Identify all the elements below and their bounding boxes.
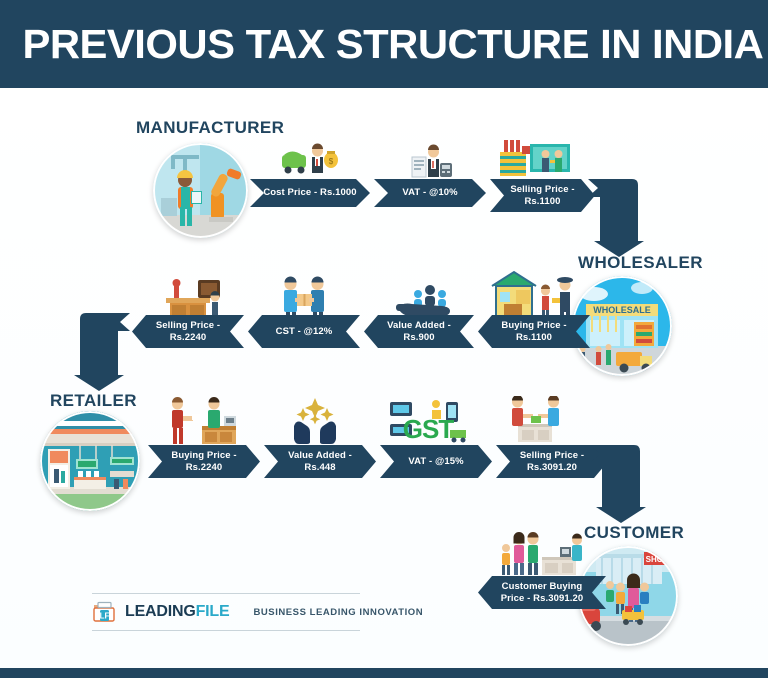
svg-text:$: $ [329, 157, 334, 166]
factory-worker-photo [153, 143, 248, 238]
icon-retail-counter [158, 396, 240, 448]
step-label: Selling Price - Rs.2240 [144, 320, 232, 344]
stage-label-customer: CUSTOMER [584, 523, 684, 543]
page-title: PREVIOUS TAX STRUCTURE IN INDIA [0, 21, 763, 68]
icon-gst: GST [388, 396, 470, 446]
node-circle-wholesaler: WHOLESALE [572, 276, 672, 376]
wholesale-store-photo: WHOLESALE [572, 276, 672, 376]
node-circle-manufacturer [153, 143, 248, 238]
icon-tax-clerk [406, 143, 454, 181]
leadingfile-logo-icon: LF [92, 599, 118, 625]
logo-wordmark: LEADINGFILE [125, 603, 229, 621]
footer-bar [0, 668, 768, 678]
icon-warehouse [490, 270, 582, 322]
step-chevron-buying-price-2240[interactable]: Buying Price - Rs.2240 [148, 445, 260, 478]
step-label: Selling Price - Rs.1100 [502, 184, 583, 208]
svg-text:LF: LF [100, 612, 110, 621]
stage-label-wholesaler: WHOLESALER [578, 253, 703, 273]
step-chevron-buying-price-1100[interactable]: Buying Price - Rs.1100 [478, 315, 590, 348]
step-label: Customer Buying Price - Rs.3091.20 [490, 581, 594, 605]
svg-text:WHOLESALE: WHOLESALE [593, 305, 651, 315]
step-chevron-vat-15[interactable]: VAT - @15% [380, 445, 492, 478]
step-label: CST - @12% [276, 326, 333, 338]
step-label: Value Added - Rs.900 [376, 320, 462, 344]
icon-hands-sparkle [288, 396, 342, 444]
step-chevron-cost-price[interactable]: Cost Price - Rs.1000 [250, 179, 370, 207]
step-label: Buying Price - Rs.1100 [490, 320, 578, 344]
step-label: VAT - @15% [408, 456, 463, 468]
step-label: Buying Price - Rs.2240 [160, 450, 248, 474]
node-circle-retailer [40, 411, 140, 511]
step-chevron-vat-10[interactable]: VAT - @10% [374, 179, 486, 207]
step-label: VAT - @10% [402, 187, 457, 199]
logo-word-file: FILE [196, 603, 230, 620]
icon-family-checkout [494, 531, 584, 579]
step-chevron-cst-12[interactable]: CST - @12% [248, 315, 360, 348]
svg-text:GST: GST [403, 414, 455, 444]
logo-tagline: BUSINESS LEADING INNOVATION [253, 607, 423, 618]
brand-logo: LF LEADINGFILE BUSINESS LEADING INNOVATI… [92, 593, 360, 631]
icon-truck-money: $ [280, 143, 342, 181]
step-chevron-selling-price-2240[interactable]: Selling Price - Rs.2240 [132, 315, 244, 348]
infographic-canvas: MANUFACTURER [0, 88, 768, 668]
step-chevron-value-added-900[interactable]: Value Added - Rs.900 [364, 315, 474, 348]
header-bar: PREVIOUS TAX STRUCTURE IN INDIA [0, 0, 768, 88]
connector-manufacturer-to-wholesaler [588, 179, 650, 262]
step-label: Value Added - Rs.448 [276, 450, 364, 474]
retail-shop-photo [40, 411, 140, 511]
step-chevron-value-added-448[interactable]: Value Added - Rs.448 [264, 445, 376, 478]
icon-hand-people [396, 278, 458, 320]
connector-retailer-to-customer [590, 445, 652, 528]
step-chevron-selling-price-1100[interactable]: Selling Price - Rs.1100 [490, 179, 595, 212]
step-label: Selling Price - Rs.3091.20 [508, 450, 596, 474]
icon-factory [498, 138, 573, 180]
logo-word-leading: LEADING [125, 603, 196, 620]
connector-wholesaler-to-retailer [68, 313, 130, 396]
step-chevron-customer-buying-price[interactable]: Customer Buying Price - Rs.3091.20 [478, 576, 606, 609]
stage-label-manufacturer: MANUFACTURER [136, 118, 284, 138]
icon-checkout [498, 396, 572, 446]
icon-handover-parcel [278, 274, 332, 322]
stage-label-retailer: RETAILER [50, 391, 137, 411]
step-label: Cost Price - Rs.1000 [263, 187, 356, 199]
